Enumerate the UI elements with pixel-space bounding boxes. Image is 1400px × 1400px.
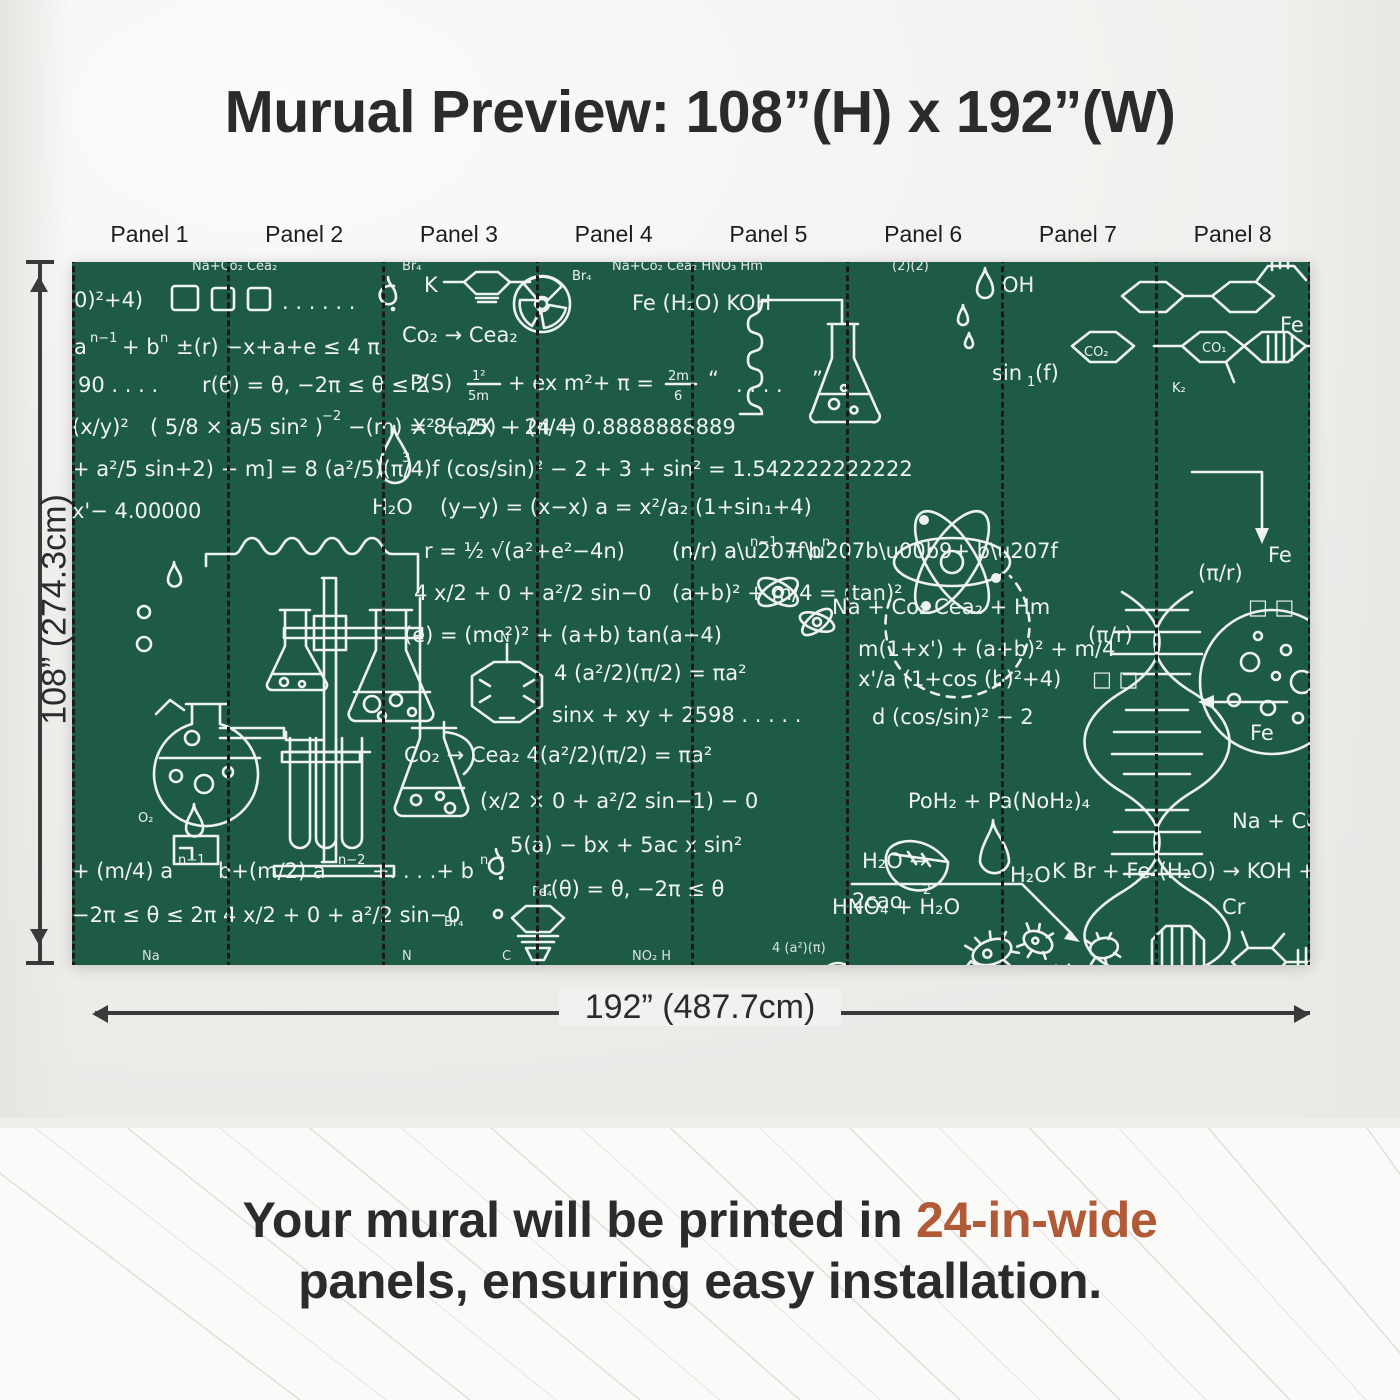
svg-text:4 (a²/2)(π/2) = πa²: 4 (a²/2)(π/2) = πa² (554, 661, 747, 685)
svg-text:CO₂: CO₂ (1084, 345, 1109, 360)
svg-text:−2π ≤ θ ≤ 2π 4 x/2 + 0 + a²: −2π ≤ θ ≤ 2π 4 x/2 + 0 + a²/2 sin−0 (72, 903, 461, 927)
panel-label-2: Panel 2 (227, 214, 382, 254)
svg-text:Na+Co₂ Cea₂ HNO₃ Hm: Na+Co₂ Cea₂ HNO₃ Hm (612, 262, 763, 274)
svg-text:Fe: Fe (1280, 313, 1304, 337)
mural-preview-page: Murual Preview: 108”(H) x 192”(W) Panel … (0, 0, 1400, 1400)
svg-text:f (cos/sin)² − 2 + 3 + sin² =: f (cos/sin)² − 2 + 3 + sin² = 1.54222222… (432, 457, 913, 481)
svg-text:K₂: K₂ (1172, 381, 1186, 396)
svg-text:. . . .: . . . . (736, 373, 783, 397)
panel-divider-8 (1308, 262, 1310, 965)
page-title: Murual Preview: 108”(H) x 192”(W) (0, 78, 1400, 146)
panel-divider-7 (1155, 262, 1158, 965)
mural-preview-area: .c { fill:none; stroke:#eef3ef; stroke-w… (72, 262, 1310, 965)
svg-text:”: ” (812, 367, 823, 391)
panel-divider-2 (382, 262, 385, 965)
svg-text:r(θ) = θ, −2π ≤ θ ≤ 2: r(θ) = θ, −2π ≤ θ ≤ 2 (202, 373, 429, 397)
panel-divider-5 (846, 262, 849, 965)
svg-text:P(S): P(S) (410, 371, 452, 395)
svg-text:Fe: Fe (1268, 543, 1292, 567)
svg-text:NO₂ H: NO₂ H (632, 949, 671, 964)
height-dimension-label: 108” (274.3cm) (36, 350, 75, 870)
svg-text:Fe₄: Fe₄ (532, 885, 552, 900)
width-dimension-label-wrap: 192” (487.7cm) (0, 988, 1400, 1027)
height-dimension-cap-top (26, 260, 54, 264)
svg-text:x'− 4.00000: x'− 4.00000 (72, 499, 201, 523)
caption-accent-text: 24-in-wide (916, 1192, 1157, 1248)
panel-divider-4 (691, 262, 694, 965)
panel-label-5: Panel 5 (691, 214, 846, 254)
svg-text:−2: −2 (322, 409, 341, 424)
footer-caption: Your mural will be printed in 24-in-wide… (0, 1190, 1400, 1312)
svg-text:K Br + Fe₄(H₂O) → KOH + Fe: K Br + Fe₄(H₂O) → KOH + Fe (1052, 859, 1310, 883)
svg-text:n: n (160, 331, 168, 346)
height-arrow-down-icon (30, 929, 48, 945)
svg-text:OH: OH (1002, 273, 1034, 297)
svg-text:Na + Co₂: Na + Co₂ (1232, 809, 1310, 833)
svg-text:(π/r): (π/r) (1088, 623, 1133, 647)
svg-text:+ ex m²+ π =: + ex m²+ π = (508, 371, 654, 395)
panel-divider-6 (1001, 262, 1004, 965)
svg-text:0)²+4): 0)²+4) (74, 288, 143, 312)
svg-text:(e) = (mc²)² + (a+b) tan(a+: (e) = (mc²)² + (a+b) tan(a+4) (404, 623, 722, 647)
panel-label-strip: Panel 1 Panel 2 Panel 3 Panel 4 Panel 5 … (72, 214, 1310, 254)
svg-text:n−1: n−1 (750, 535, 777, 550)
svg-text:( 5/8 × a/5 sin² ): ( 5/8 × a/5 sin² ) (150, 415, 323, 439)
svg-text:(f): (f) (1035, 361, 1059, 385)
svg-text:n−1: n−1 (90, 331, 117, 346)
svg-text:b+(m/2) a: b+(m/2) a (218, 859, 326, 883)
height-dimension-cap-bottom (26, 961, 54, 965)
svg-text:r(θ) = θ, −2π ≤ θ: r(θ) = θ, −2π ≤ θ (542, 877, 724, 901)
panel-label-7: Panel 7 (1001, 214, 1156, 254)
svg-text:Co₂ → Cea₂: Co₂ → Cea₂ (402, 323, 518, 347)
svg-text:N: N (500, 631, 510, 646)
svg-text:n−2: n−2 (338, 853, 365, 868)
svg-text:Fe: Fe (1250, 721, 1274, 745)
svg-text:PoH₂ + Pa(NoH₂)₄: PoH₂ + Pa(NoH₂)₄ (908, 789, 1090, 813)
panel-label-6: Panel 6 (846, 214, 1001, 254)
svg-text:(π/r): (π/r) (1198, 561, 1243, 585)
svg-text:Cr: Cr (1222, 895, 1246, 919)
svg-text:(2)(2): (2)(2) (892, 262, 929, 274)
svg-text:X² + 2X − 24 = 0.8888888889: X² + 2X − 24 = 0.8888888889 (412, 415, 736, 439)
panel-label-3: Panel 3 (382, 214, 537, 254)
svg-text:+ (m/4) a: + (m/4) a (72, 859, 173, 883)
svg-text:n: n (480, 853, 488, 868)
svg-text:4 (a²)(π): 4 (a²)(π) (772, 941, 826, 956)
panel-label-1: Panel 1 (72, 214, 227, 254)
caption-line-1-pre: Your mural will be printed in (243, 1192, 916, 1248)
svg-text:O₂: O₂ (138, 811, 153, 826)
svg-text:2cao: 2cao (852, 889, 903, 913)
svg-text:2m: 2m (668, 369, 689, 384)
svg-text:H₂O →: H₂O → (862, 849, 927, 873)
svg-text:CO₁: CO₁ (1202, 341, 1227, 356)
svg-text:±(r) −x+a+e ≤ 4 π: ±(r) −x+a+e ≤ 4 π (176, 335, 380, 359)
svg-text:−2: −2 (912, 883, 931, 898)
svg-text:Na: Na (142, 949, 160, 964)
caption-line-2: panels, ensuring easy installation. (0, 1251, 1400, 1312)
svg-text:5m: 5m (468, 389, 489, 404)
svg-text:+. . . .+ b: +. . . .+ b (372, 859, 474, 883)
svg-text:n−1: n−1 (178, 853, 205, 868)
panel-label-4: Panel 4 (536, 214, 691, 254)
svg-text:+ a²/5 sin+2) − m] = 8 (a²/5)(: + a²/5 sin+2) − m] = 8 (a²/5)(π/4) (72, 457, 432, 481)
svg-text:a: a (74, 335, 87, 359)
svg-text:Br₄: Br₄ (444, 915, 463, 930)
svg-text:4 x/2 + 0 + a²/2 sin−0: 4 x/2 + 0 + a²/2 sin−0 (414, 581, 652, 605)
svg-text:5(a) − bx + 5ac x sin²: 5(a) − bx + 5ac x sin² (510, 833, 742, 857)
svg-text:(n/r) a: (n/r) a (672, 539, 737, 563)
svg-text:Co₂ → Cea₂ 4(a²/2)(π/2) = π: Co₂ → Cea₂ 4(a²/2)(π/2) = πa² (404, 743, 712, 767)
svg-text:(y−y) = (x−x) a = x²/a₂ (1: (y−y) = (x−x) a = x²/a₂ (1+sin₁+4) (440, 495, 812, 519)
svg-text:sinx + xy + 2598 . . . . .: sinx + xy + 2598 . . . . . (552, 703, 801, 727)
svg-text:r = ½ √(a²+e²−4n): r = ½ √(a²+e²−4n) (424, 539, 625, 563)
svg-text:H₂O: H₂O (1010, 863, 1051, 887)
svg-text:n: n (822, 535, 830, 550)
svg-text:x'/a (1+cos (b)²+4): x'/a (1+cos (b)²+4) (858, 667, 1061, 691)
panel-divider-3 (536, 262, 539, 965)
svg-text:(x/2 × 0 + a²/2 sin−1) − 0: (x/2 × 0 + a²/2 sin−1) − 0 (480, 789, 758, 813)
svg-text:. . . . . .: . . . . . . (282, 290, 355, 314)
svg-text:6: 6 (674, 389, 682, 404)
svg-text:N: N (402, 949, 412, 964)
svg-text:+ b: + b (784, 539, 822, 563)
svg-text:□ □: □ □ (1248, 595, 1294, 619)
panel-divider-1 (227, 262, 230, 965)
height-arrow-up-icon (30, 276, 48, 292)
svg-text:“: “ (708, 367, 719, 391)
svg-text:sin: sin (992, 361, 1022, 385)
svg-text:d (cos/sin)² − 2: d (cos/sin)² − 2 (872, 705, 1034, 729)
svg-text:Fe (H₂O) KOH: Fe (H₂O) KOH (632, 291, 771, 315)
svg-text:90 . . . .: 90 . . . . (78, 373, 158, 397)
caption-line-1: Your mural will be printed in 24-in-wide (0, 1190, 1400, 1251)
svg-text:m(1+x') + (a+b)² + m/4: m(1+x') + (a+b)² + m/4 (858, 637, 1115, 661)
svg-text:H₂O: H₂O (372, 495, 413, 519)
svg-text:C: C (502, 949, 511, 964)
svg-text:Br₄: Br₄ (402, 262, 421, 274)
panel-label-8: Panel 8 (1155, 214, 1310, 254)
svg-text:K: K (424, 273, 439, 297)
svg-text:Br₄: Br₄ (572, 269, 591, 284)
svg-text:(x/y)²: (x/y)² (72, 415, 129, 439)
width-dimension-label: 192” (487.7cm) (559, 988, 842, 1026)
mural-chalkboard: .c { fill:none; stroke:#eef3ef; stroke-w… (72, 262, 1310, 965)
svg-text:Na+Co₂ Cea₂: Na+Co₂ Cea₂ (192, 262, 277, 274)
svg-text:Na + Co₂ Cea₂ + Hm: Na + Co₂ Cea₂ + Hm (832, 595, 1050, 619)
svg-text:+ b: + b (122, 335, 160, 359)
svg-text:1²: 1² (472, 369, 485, 384)
